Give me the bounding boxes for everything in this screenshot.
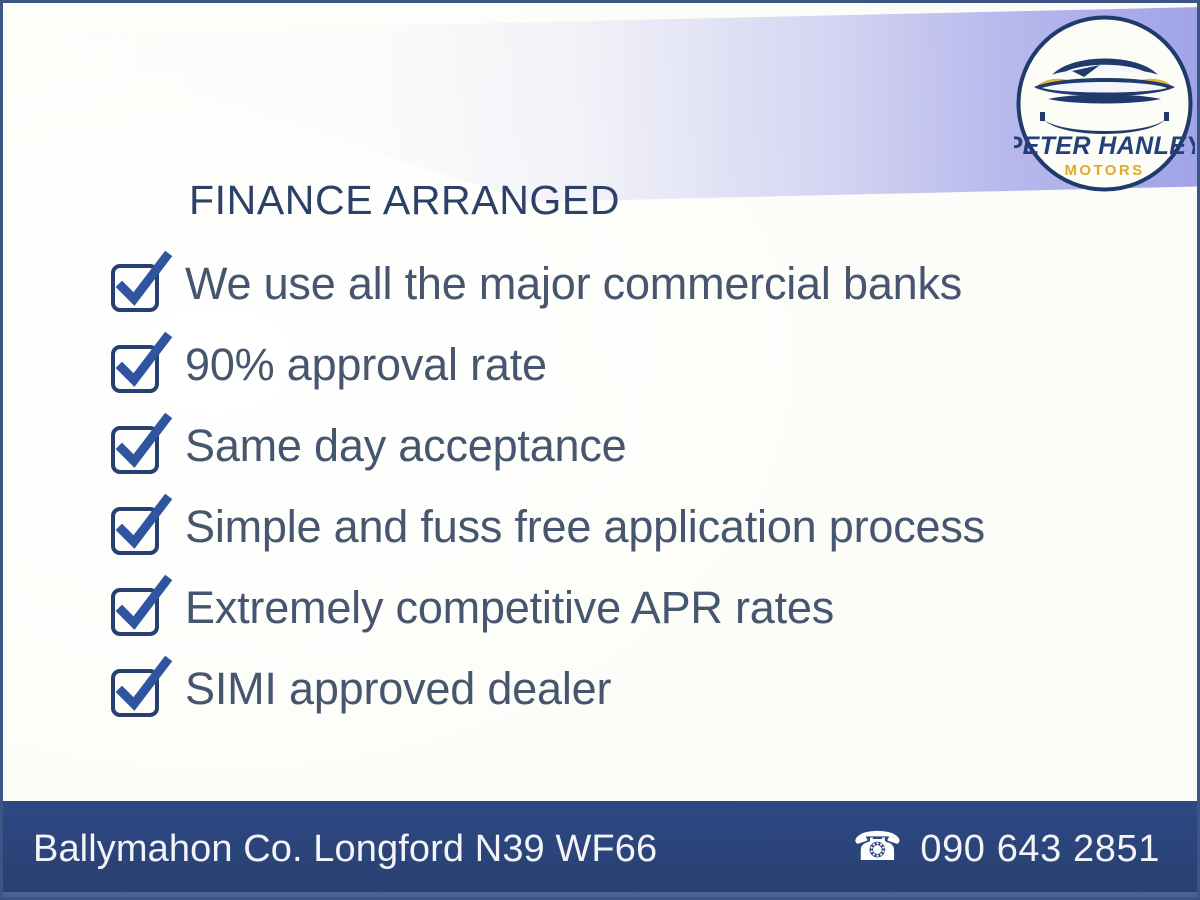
telephone-icon: ☎ xyxy=(853,827,903,867)
footer-phone-number[interactable]: 090 643 2851 xyxy=(920,828,1160,871)
list-item: Simple and fuss free application process xyxy=(107,486,1107,567)
list-item: Extremely competitive APR rates xyxy=(107,567,1107,648)
logo-badge-svg: PETER HANLEY MOTORS xyxy=(1014,13,1195,194)
benefits-checklist: We use all the major commercial banks 90… xyxy=(107,243,1107,729)
list-item-label: 90% approval rate xyxy=(185,342,547,387)
list-item-label: Simple and fuss free application process xyxy=(185,504,985,549)
checked-checkbox-icon xyxy=(107,415,169,477)
company-logo[interactable]: PETER HANLEY MOTORS xyxy=(1014,13,1195,194)
checked-checkbox-icon xyxy=(107,496,169,558)
logo-brand-name: PETER HANLEY xyxy=(1014,132,1195,160)
checked-checkbox-icon xyxy=(107,658,169,720)
footer-address: Ballymahon Co. Longford N39 WF66 xyxy=(33,828,657,871)
list-item-label: Same day acceptance xyxy=(185,423,626,468)
checked-checkbox-icon xyxy=(107,334,169,396)
checked-checkbox-icon xyxy=(107,253,169,315)
checked-checkbox-icon xyxy=(107,577,169,639)
finance-arranged-poster: PETER HANLEY MOTORS FINANCE ARRANGED We … xyxy=(0,0,1200,900)
list-item: Same day acceptance xyxy=(107,405,1107,486)
footer-phone-group[interactable]: ☎ 090 643 2851 xyxy=(853,828,1170,871)
list-item: We use all the major commercial banks xyxy=(107,243,1107,324)
page-title: FINANCE ARRANGED xyxy=(189,177,620,224)
footer-bottom-strip xyxy=(0,892,1200,897)
list-item: SIMI approved dealer xyxy=(107,648,1107,729)
list-item-label: We use all the major commercial banks xyxy=(185,261,962,306)
list-item-label: Extremely competitive APR rates xyxy=(185,585,834,630)
footer-bar: Ballymahon Co. Longford N39 WF66 ☎ 090 6… xyxy=(0,801,1200,897)
list-item: 90% approval rate xyxy=(107,324,1107,405)
logo-brand-subtitle: MOTORS xyxy=(1065,162,1145,179)
list-item-label: SIMI approved dealer xyxy=(185,666,611,711)
